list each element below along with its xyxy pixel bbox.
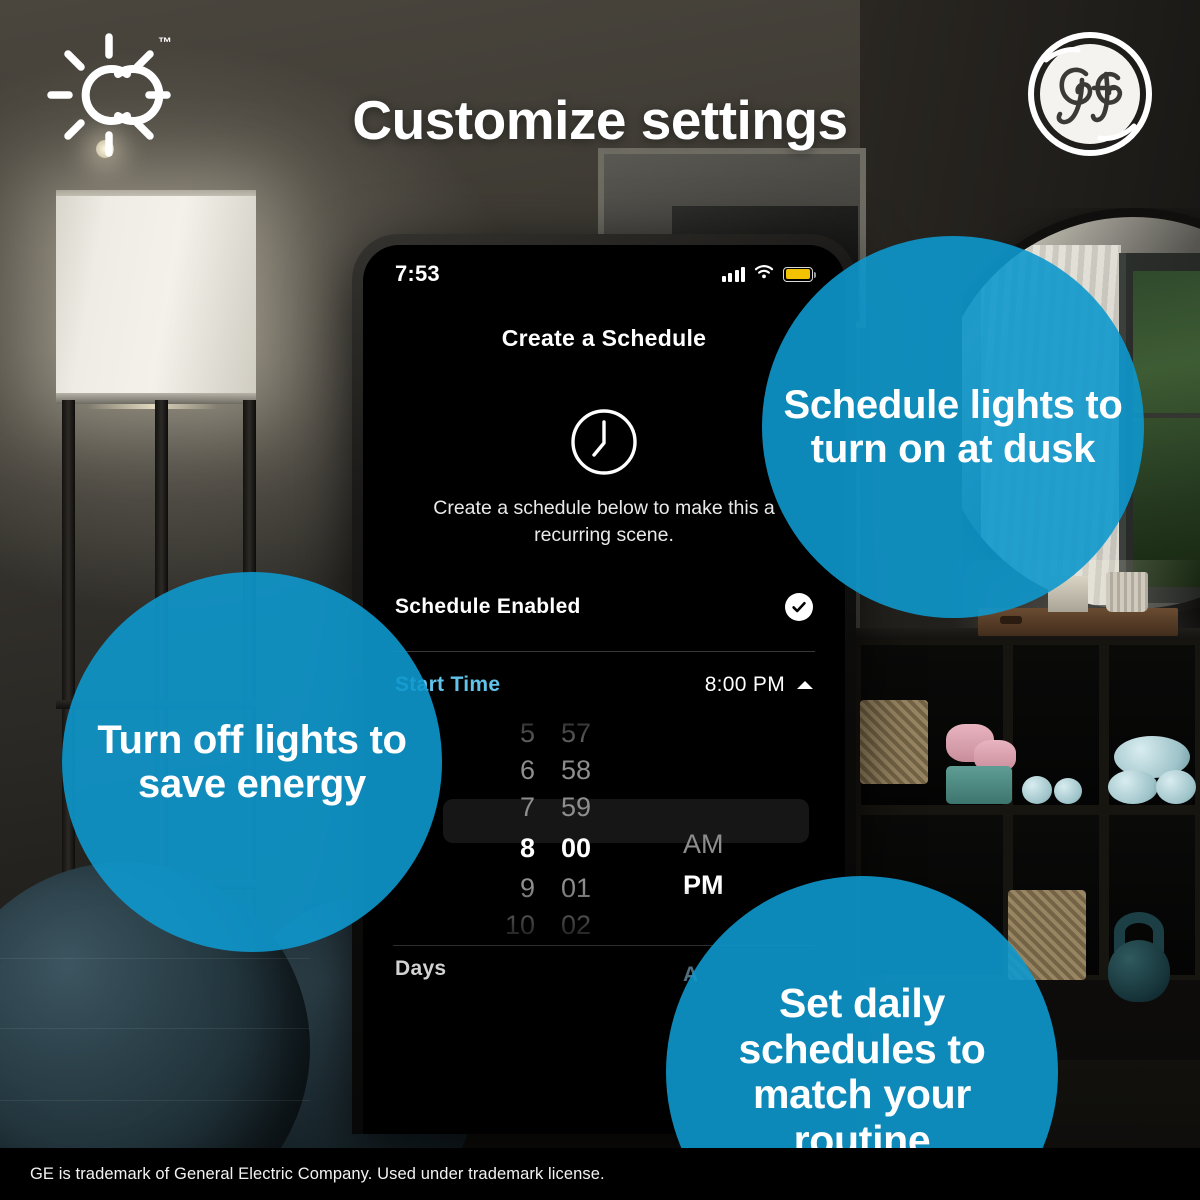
picker-item[interactable]: 59 [561, 789, 591, 826]
cellular-signal-icon [722, 267, 746, 282]
rolled-towel [1108, 770, 1158, 804]
app-screen-title: Create a Schedule [363, 325, 845, 352]
trademark-notice: GE is trademark of General Electric Comp… [30, 1165, 605, 1184]
status-time: 7:53 [395, 261, 440, 287]
lamp-shade [56, 196, 256, 401]
check-circle-icon[interactable] [785, 593, 813, 621]
callout-bubble-dusk: Schedule lights to turn on at dusk [762, 236, 1144, 618]
wicker-basket [860, 700, 928, 784]
tray-handle [1000, 616, 1022, 624]
kettlebell-body [1108, 940, 1170, 1002]
days-label: Days [395, 957, 446, 980]
lamp-glow [88, 404, 218, 409]
picker-column-hours[interactable]: 5 6 7 8 9 10 11 [443, 715, 555, 935]
picker-item[interactable]: 01 [561, 870, 591, 907]
picker-column-minutes[interactable]: 57 58 59 00 01 02 03 [555, 715, 667, 935]
trademark-symbol: ™ [158, 34, 172, 50]
picker-item[interactable]: 7 [520, 789, 535, 826]
yoga-block [946, 766, 1012, 804]
schedule-enabled-label: Schedule Enabled [395, 595, 581, 619]
battery-low-power-icon [783, 267, 813, 282]
picker-item[interactable]: 9 [520, 870, 535, 907]
picker-item[interactable]: 57 [561, 715, 591, 752]
picker-item[interactable]: 02 [561, 907, 591, 935]
wifi-icon [754, 264, 774, 284]
rolled-towel [1054, 778, 1082, 804]
picker-item[interactable]: 58 [561, 752, 591, 789]
callout-bubble-turnoff: Turn off lights to save energy [62, 572, 442, 952]
picker-item[interactable]: 6 [520, 752, 535, 789]
status-indicators [722, 264, 814, 284]
picker-item[interactable]: AM [683, 826, 724, 863]
app-description: Create a schedule below to make this a r… [363, 495, 845, 549]
picker-item-selected[interactable]: 00 [561, 826, 591, 870]
footer: GE is trademark of General Electric Comp… [0, 1148, 1200, 1200]
page-title: Customize settings [0, 88, 1200, 152]
start-time-value: 8:00 PM [705, 673, 785, 697]
divider [393, 651, 815, 652]
picker-item[interactable]: 5 [520, 715, 535, 752]
status-bar: 7:53 [363, 257, 845, 291]
start-time-value-group[interactable]: 8:00 PM [705, 673, 813, 697]
ribbed-vase [1106, 572, 1148, 612]
picker-item[interactable]: 10 [505, 907, 535, 935]
time-picker[interactable]: 5 6 7 8 9 10 11 57 58 59 00 01 02 [385, 715, 823, 935]
rolled-towel [1156, 770, 1196, 804]
promo-image: ™ Customize settings 7:53 [0, 0, 1200, 1200]
picker-item-selected[interactable]: PM [683, 863, 724, 907]
schedule-enabled-row[interactable]: Schedule Enabled [363, 593, 845, 621]
start-time-row[interactable]: Start Time 8:00 PM [363, 673, 845, 697]
clock-icon [567, 405, 641, 479]
chevron-up-icon[interactable] [797, 681, 813, 689]
picker-item-selected[interactable]: 8 [520, 826, 535, 870]
rolled-towel [1022, 776, 1052, 804]
